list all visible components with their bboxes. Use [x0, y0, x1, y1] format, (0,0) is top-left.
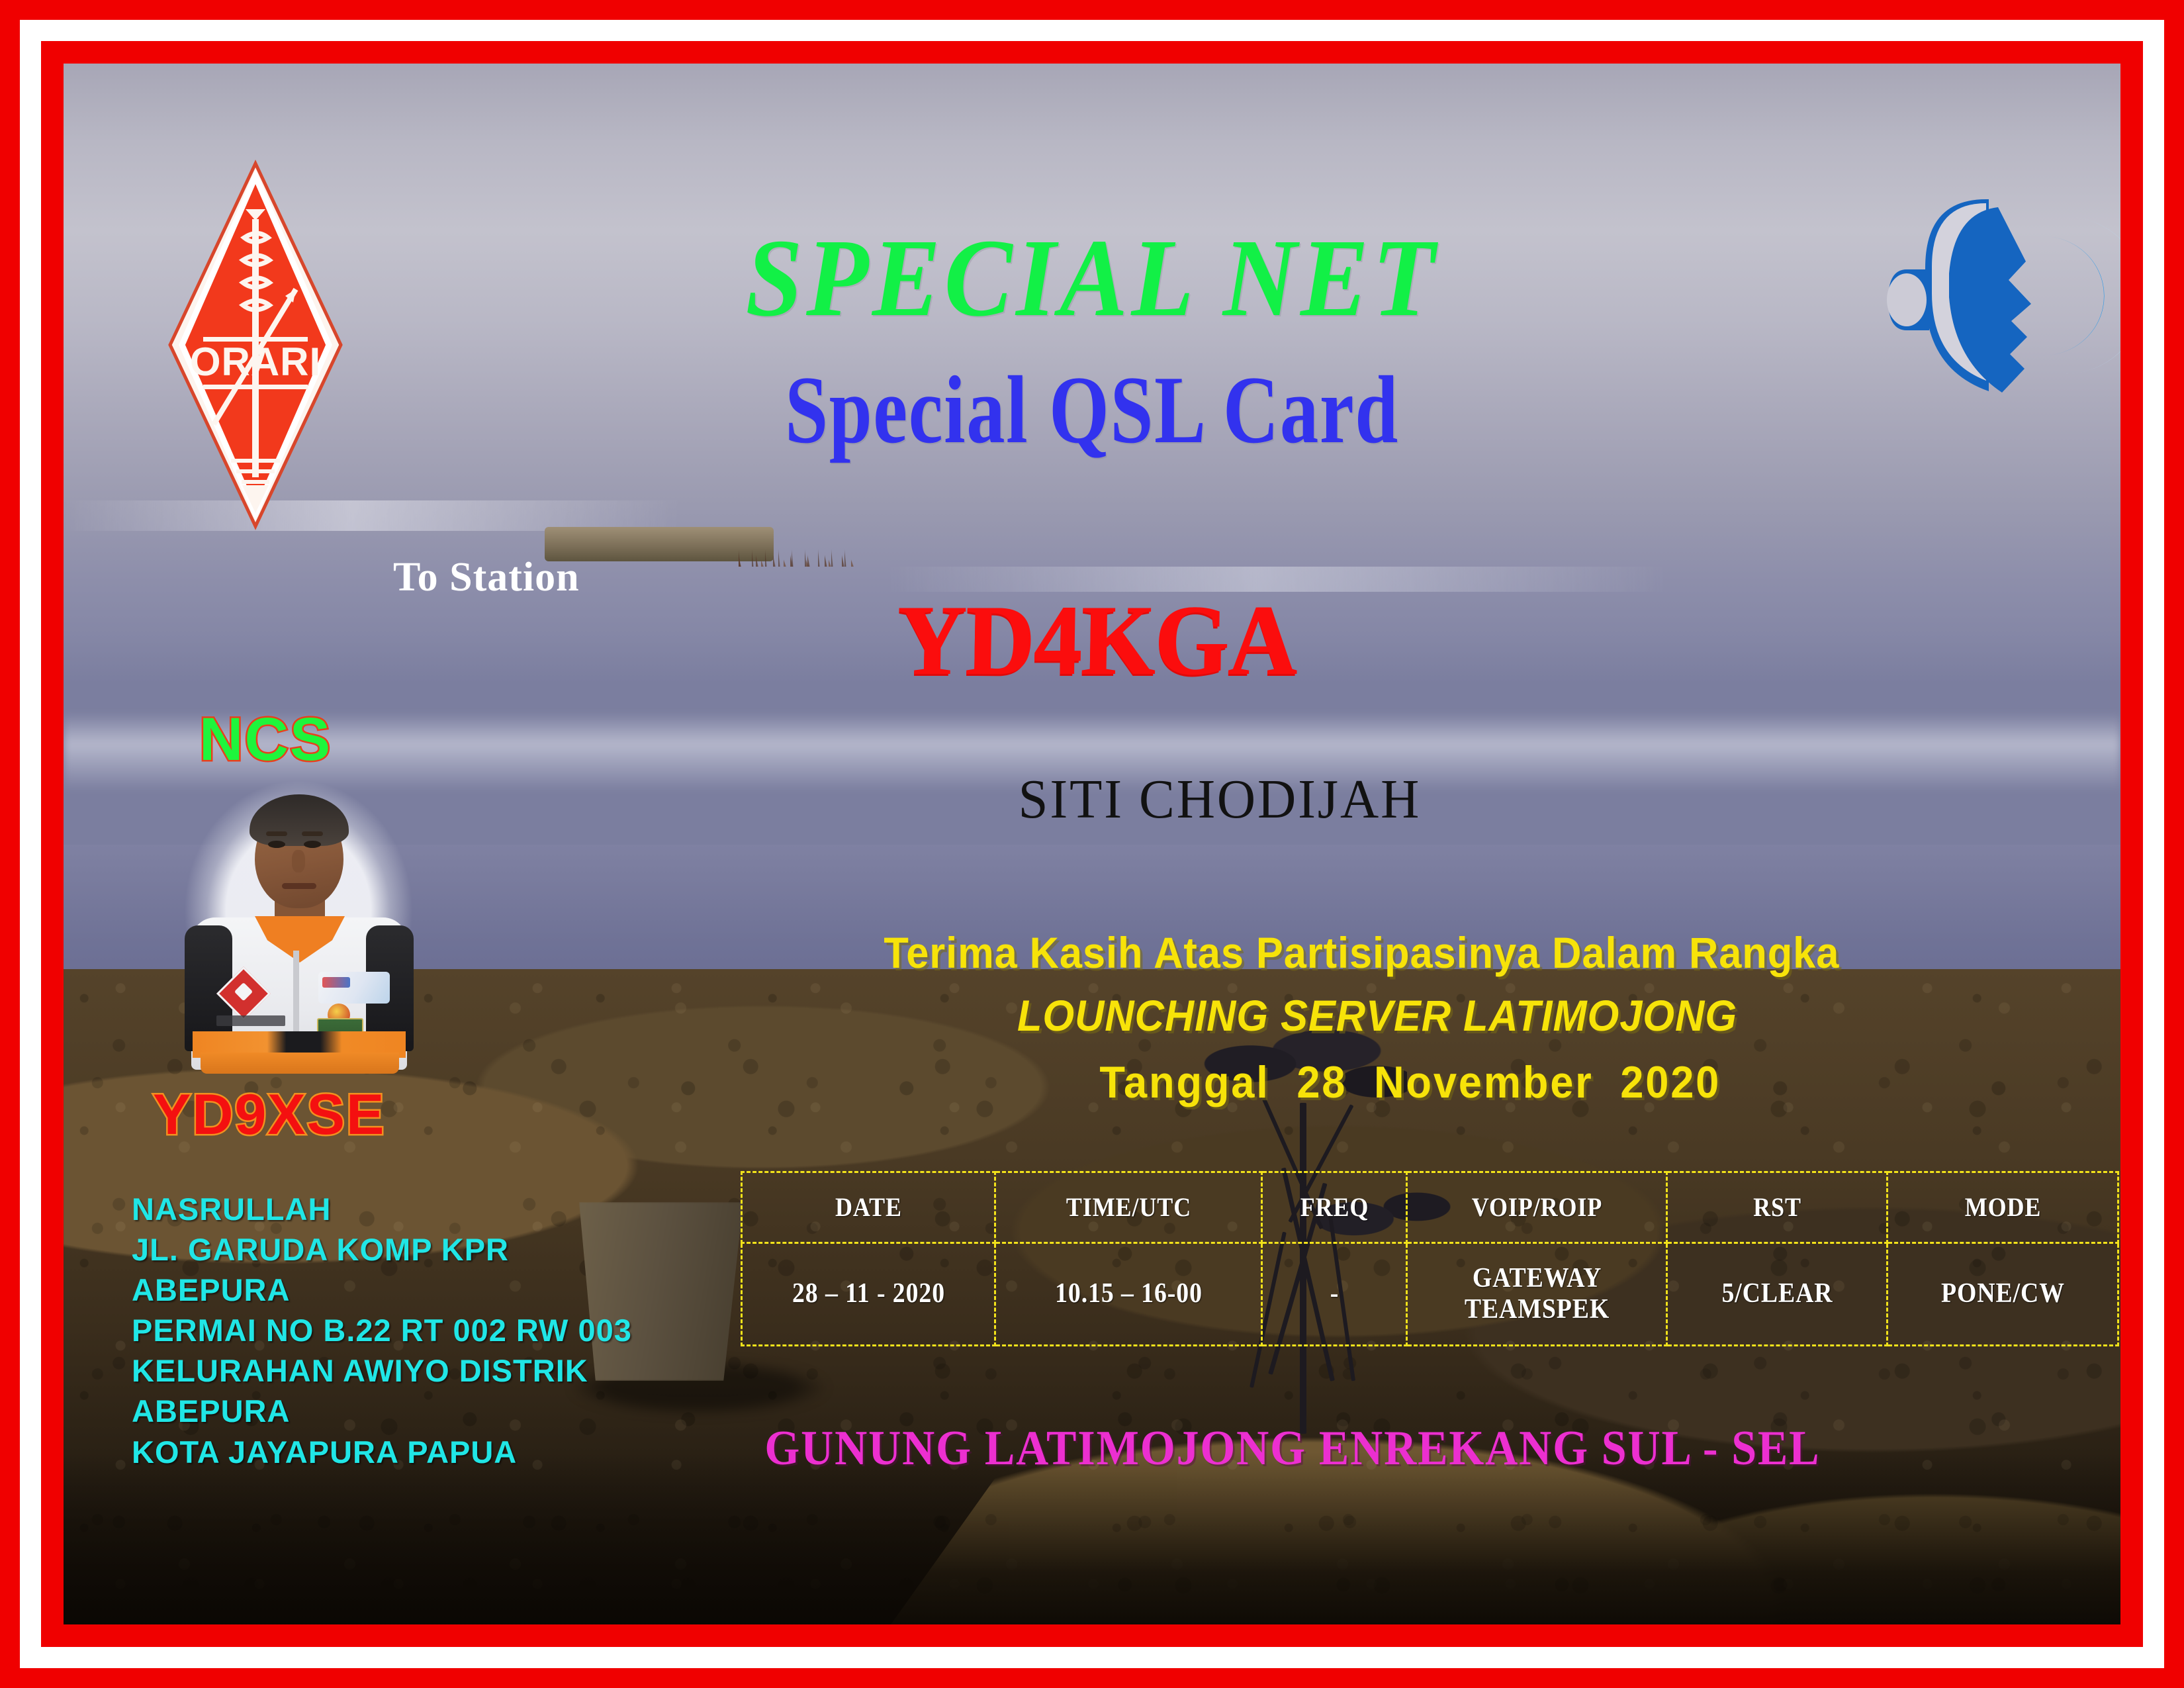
cairn-dry-grass	[739, 520, 858, 567]
column-header-rst: RST	[1678, 1172, 1876, 1243]
ncs-callsign: YD9XSE	[153, 1086, 385, 1143]
portrait-eye-left	[268, 841, 285, 848]
portrait-callsign-patch	[216, 1015, 285, 1026]
cell-mode: PONE/CW	[1899, 1243, 2107, 1346]
address-line: KELURAHAN AWIYO DISTRIK	[132, 1350, 632, 1391]
thanks-line-3: Tanggal 28 November 2020	[1099, 1060, 1721, 1105]
portrait-placket	[293, 951, 299, 1037]
background-photo-mountain-summit: ORARI	[64, 64, 2120, 1624]
orari-logo: ORARI	[166, 160, 345, 530]
portrait-lower-uniform	[201, 1053, 399, 1074]
column-header-freq: FREQ	[1269, 1172, 1399, 1243]
thanks-line-2: LOUNCHING SERVER LATIMOJONG	[1017, 994, 1737, 1037]
to-station-operator-name: SITI CHODIJAH	[1019, 772, 1422, 827]
portrait-eyebrow-right	[302, 831, 323, 836]
ncs-label: NCS	[199, 709, 332, 770]
portrait-eye-right	[304, 841, 321, 848]
cairn-body	[557, 556, 762, 1218]
cell-voip-roip: GATEWAY TEAMSPEK	[1420, 1243, 1654, 1346]
column-header-mode: MODE	[1899, 1172, 2107, 1243]
column-header-voip-roip: VOIP/ROIP	[1420, 1172, 1654, 1243]
portrait-nose	[292, 850, 305, 872]
qso-log-table: DATE TIME/UTC FREQ VOIP/ROIP RST MODE 28…	[741, 1171, 2119, 1346]
ncs-operator-photo	[159, 765, 437, 1083]
cell-rst: 5/CLEAR	[1678, 1243, 1876, 1346]
card-subtitle: Special QSL Card	[269, 361, 1915, 458]
portrait-eyebrow-left	[266, 831, 287, 836]
operator-portrait	[174, 785, 423, 1070]
address-line: KOTA JAYAPURA PAPUA	[132, 1432, 632, 1472]
location-caption: GUNUNG LATIMOJONG ENREKANG SUL - SEL	[764, 1424, 1820, 1473]
foreground-shadow	[64, 1452, 2120, 1624]
portrait-mouth	[282, 883, 316, 889]
to-station-callsign: YD4KGA	[896, 590, 1297, 690]
sender-address-block: NASRULLAH JL. GARUDA KOMP KPR ABEPURA PE…	[132, 1189, 632, 1472]
address-line: PERMAI NO B.22 RT 002 RW 003	[132, 1310, 632, 1350]
column-header-time-utc: TIME/UTC	[1009, 1172, 1249, 1243]
portrait-hair	[250, 794, 349, 846]
cell-freq: -	[1269, 1243, 1399, 1346]
cell-date: 28 – 11 - 2020	[754, 1243, 983, 1346]
table-row: 28 – 11 - 2020 10.15 – 16-00 - GATEWAY T…	[742, 1243, 2118, 1346]
table-header-row: DATE TIME/UTC FREQ VOIP/ROIP RST MODE	[742, 1172, 2118, 1243]
qsl-card: ORARI	[0, 0, 2184, 1688]
column-header-date: DATE	[754, 1172, 983, 1243]
address-line: NASRULLAH	[132, 1189, 632, 1229]
thanks-line-1: Terima Kasih Atas Partisipasinya Dalam R…	[884, 931, 1839, 974]
address-line: ABEPURA	[132, 1391, 632, 1431]
to-station-label: To Station	[393, 557, 580, 598]
portrait-badge-right	[318, 972, 390, 1004]
address-line: ABEPURA	[132, 1270, 632, 1310]
cell-time-utc: 10.15 – 16-00	[1009, 1243, 1249, 1346]
address-line: JL. GARUDA KOMP KPR	[132, 1229, 632, 1270]
card-title: SPECIAL NET	[146, 222, 2038, 334]
